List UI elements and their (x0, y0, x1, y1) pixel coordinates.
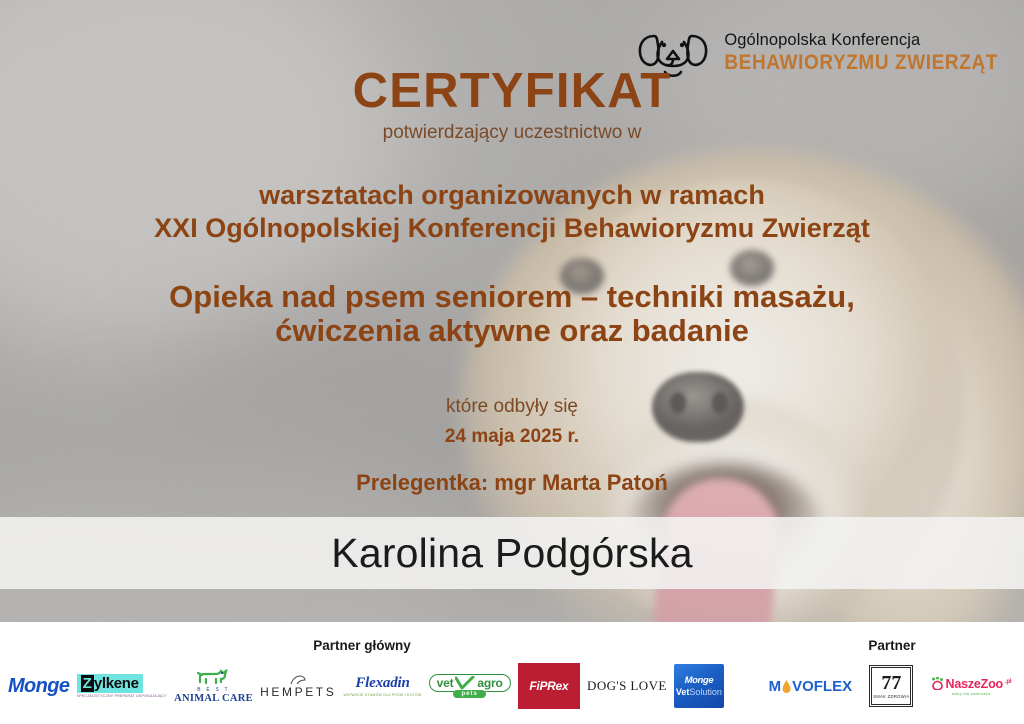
partner-logo-row: M VOFLEX 77 SMAK ZDROWIA (760, 660, 1020, 712)
main-partner-logo-row: Monge Z ylkene SPECJALISTYCZNY PREPARAT … (8, 660, 724, 712)
sponsor-logo-vet-agro[interactable]: vet agro pets (429, 661, 511, 711)
certificate-page: Ogólnopolska Konferencja BEHAWIORYZMU ZW… (0, 0, 1024, 724)
zylkene-logo: Z ylkene SPECJALISTYCZNY PREPARAT USPOKA… (77, 674, 167, 698)
sponsor-logo-monge-vetsolution[interactable]: Monge VetSolution (674, 661, 724, 711)
movoflex-part1: M (769, 678, 782, 695)
sponsor-logo-flexadin[interactable]: Flexadin WSPARCIE STAWÓW DLA PSÓW I KOTÓ… (344, 661, 422, 711)
hempets-word: HEMPETS (260, 685, 336, 699)
seventy-seven-logo: 77 SMAK ZDROWIA (869, 665, 913, 707)
droplet-icon (782, 680, 791, 693)
sponsor-logo-movoflex[interactable]: M VOFLEX (769, 661, 853, 711)
context-line-2: XXI Ogólnopolskiej Konferencji Behawiory… (0, 213, 1024, 244)
movoflex-logo: M VOFLEX (769, 678, 853, 695)
monge-logo: Monge (8, 675, 69, 698)
conference-name-line1: Ogólnopolska Konferencja (724, 32, 998, 49)
monge-word: Monge (685, 675, 714, 686)
flexadin-tagline: WSPARCIE STAWÓW DLA PSÓW I KOTÓW (344, 693, 422, 697)
flexadin-word: Flexadin (355, 675, 409, 692)
seventy-seven-tagline: SMAK ZDROWIA (873, 694, 909, 699)
held-label: które odbyły się (0, 396, 1024, 418)
movoflex-part2: VOFLEX (792, 678, 852, 695)
workshop-topic-line-2: ćwiczenia aktywne oraz badanie (0, 313, 1024, 349)
zylkene-word: ylkene (94, 675, 139, 692)
sponsor-logo-best-animal-care[interactable]: B E S T ANIMAL CARE (174, 661, 253, 711)
vet-agro-logo: vet agro pets (429, 674, 511, 698)
sponsor-logo-hempets[interactable]: HEMPETS (260, 661, 336, 711)
main-partner-heading: Partner główny (0, 638, 724, 653)
vet-word: vet (437, 676, 454, 690)
sponsor-logo-naszezoo[interactable]: NaszeZoo.pl sklep dla zwierzaka (931, 661, 1012, 711)
flexadin-logo: Flexadin WSPARCIE STAWÓW DLA PSÓW I KOTÓ… (344, 675, 422, 697)
sponsor-logo-fiprex[interactable]: FiPRex (518, 661, 580, 711)
workshop-topic-line-1: Opieka nad psem seniorem – techniki masa… (0, 279, 1024, 315)
solution-part: Solution (689, 687, 722, 697)
seventy-seven-number: 77 (881, 673, 901, 693)
sponsor-logo-dogs-love[interactable]: DOG'S LOVE (587, 661, 667, 711)
dog-silhouette-icon (196, 669, 230, 686)
certificate-subtitle: potwierdzający uczestnictwo w (0, 122, 1024, 144)
zylkene-tagline: SPECJALISTYCZNY PREPARAT USPOKAJAJĄCY (77, 694, 167, 698)
vetsolution-word: VetSolution (676, 687, 722, 697)
zylkene-initial: Z (81, 675, 94, 692)
fiprex-logo: FiPRex (518, 663, 580, 709)
held-date: 24 maja 2025 r. (0, 426, 1024, 448)
hempets-logo: HEMPETS (260, 673, 336, 699)
paw-print-icon (931, 677, 944, 690)
sponsor-logo-monge[interactable]: Monge (8, 661, 69, 711)
naszezoo-word: NaszeZoo (946, 677, 1003, 691)
vet-part: Vet (676, 687, 690, 697)
fiprex-word: FiPRex (529, 679, 568, 693)
naszezoo-tagline: sklep dla zwierzaka (952, 692, 991, 696)
partner-heading: Partner (760, 638, 1024, 653)
naszezoo-suffix: .pl (1005, 678, 1011, 684)
checkmark-icon (455, 676, 475, 690)
participant-name-band: Karolina Podgórska (0, 517, 1024, 589)
speaker-name: Prelegentka: mgr Marta Patoń (0, 470, 1024, 496)
sponsor-logo-77[interactable]: 77 SMAK ZDROWIA (869, 661, 913, 711)
vet-agro-badge: pets (453, 690, 485, 698)
naszezoo-wordmark: NaszeZoo.pl (931, 677, 1012, 691)
monge-vetsolution-logo: Monge VetSolution (674, 664, 724, 708)
agro-word: agro (477, 676, 502, 690)
context-line-1: warsztatach organizowanych w ramach (0, 180, 1024, 211)
sponsor-logo-zylkene[interactable]: Z ylkene SPECJALISTYCZNY PREPARAT USPOKA… (77, 661, 167, 711)
animal-care-word: ANIMAL CARE (174, 693, 253, 704)
dogs-love-logo: DOG'S LOVE (587, 678, 667, 694)
certificate-title: CERTYFIKAT (0, 63, 1024, 119)
zylkene-wordmark: Z ylkene (77, 674, 143, 693)
naszezoo-logo: NaszeZoo.pl sklep dla zwierzaka (931, 677, 1012, 696)
best-animal-care-logo: B E S T ANIMAL CARE (174, 669, 253, 704)
leaf-icon (289, 673, 307, 685)
participant-name: Karolina Podgórska (331, 530, 692, 577)
